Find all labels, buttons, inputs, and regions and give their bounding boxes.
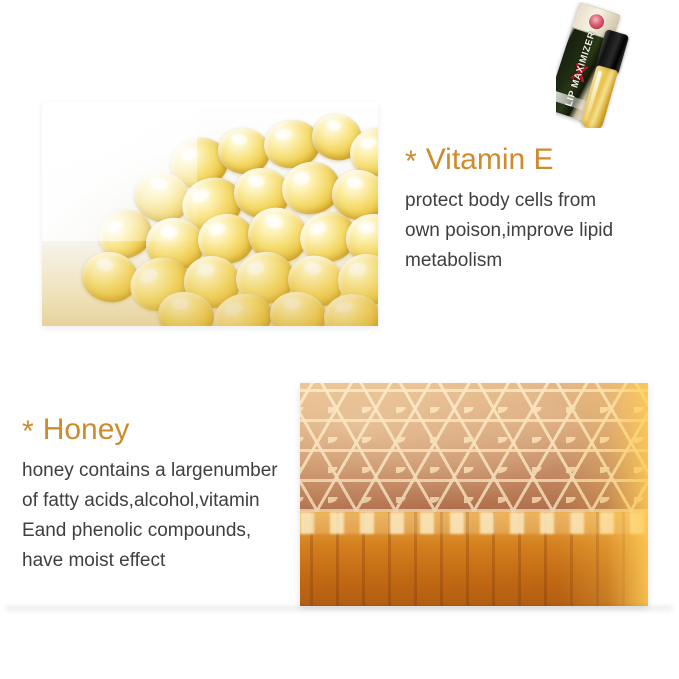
product-thumbnail-image: X LIP MAXIMIZER bbox=[556, 2, 678, 128]
honey-heading: *Honey bbox=[22, 412, 308, 450]
vitamin-e-heading: *Vitamin E bbox=[405, 142, 663, 180]
description-line: honey contains a largenumber bbox=[22, 456, 308, 486]
vitamin-e-capsules-image bbox=[42, 102, 378, 326]
honey-section: *Honey honey contains a largenumber of f… bbox=[22, 412, 308, 576]
capsule-image-highlight bbox=[42, 102, 197, 241]
honeycomb-image-shadow bbox=[6, 606, 673, 613]
asterisk-icon: * bbox=[22, 415, 34, 448]
description-line: Eand phenolic compounds, bbox=[22, 516, 308, 546]
vitamin-e-heading-label: Vitamin E bbox=[426, 143, 554, 176]
description-line: protect body cells from bbox=[405, 186, 663, 216]
vitamin-e-description: protect body cells from own poison,impro… bbox=[405, 186, 663, 276]
honey-glow bbox=[558, 383, 648, 606]
description-line: metabolism bbox=[405, 246, 663, 276]
description-line: of fatty acids,alcohol,vitamin bbox=[22, 486, 308, 516]
honey-heading-label: Honey bbox=[43, 413, 130, 446]
infographic-canvas: X LIP MAXIMIZER bbox=[0, 0, 679, 679]
asterisk-icon: * bbox=[405, 145, 417, 178]
description-line: have moist effect bbox=[22, 546, 308, 576]
honeycomb-image bbox=[300, 383, 648, 606]
capsule-pile-shading bbox=[42, 241, 378, 326]
honey-description: honey contains a largenumber of fatty ac… bbox=[22, 456, 308, 576]
description-line: own poison,improve lipid bbox=[405, 216, 663, 246]
vitamin-e-section: *Vitamin E protect body cells from own p… bbox=[405, 142, 663, 276]
